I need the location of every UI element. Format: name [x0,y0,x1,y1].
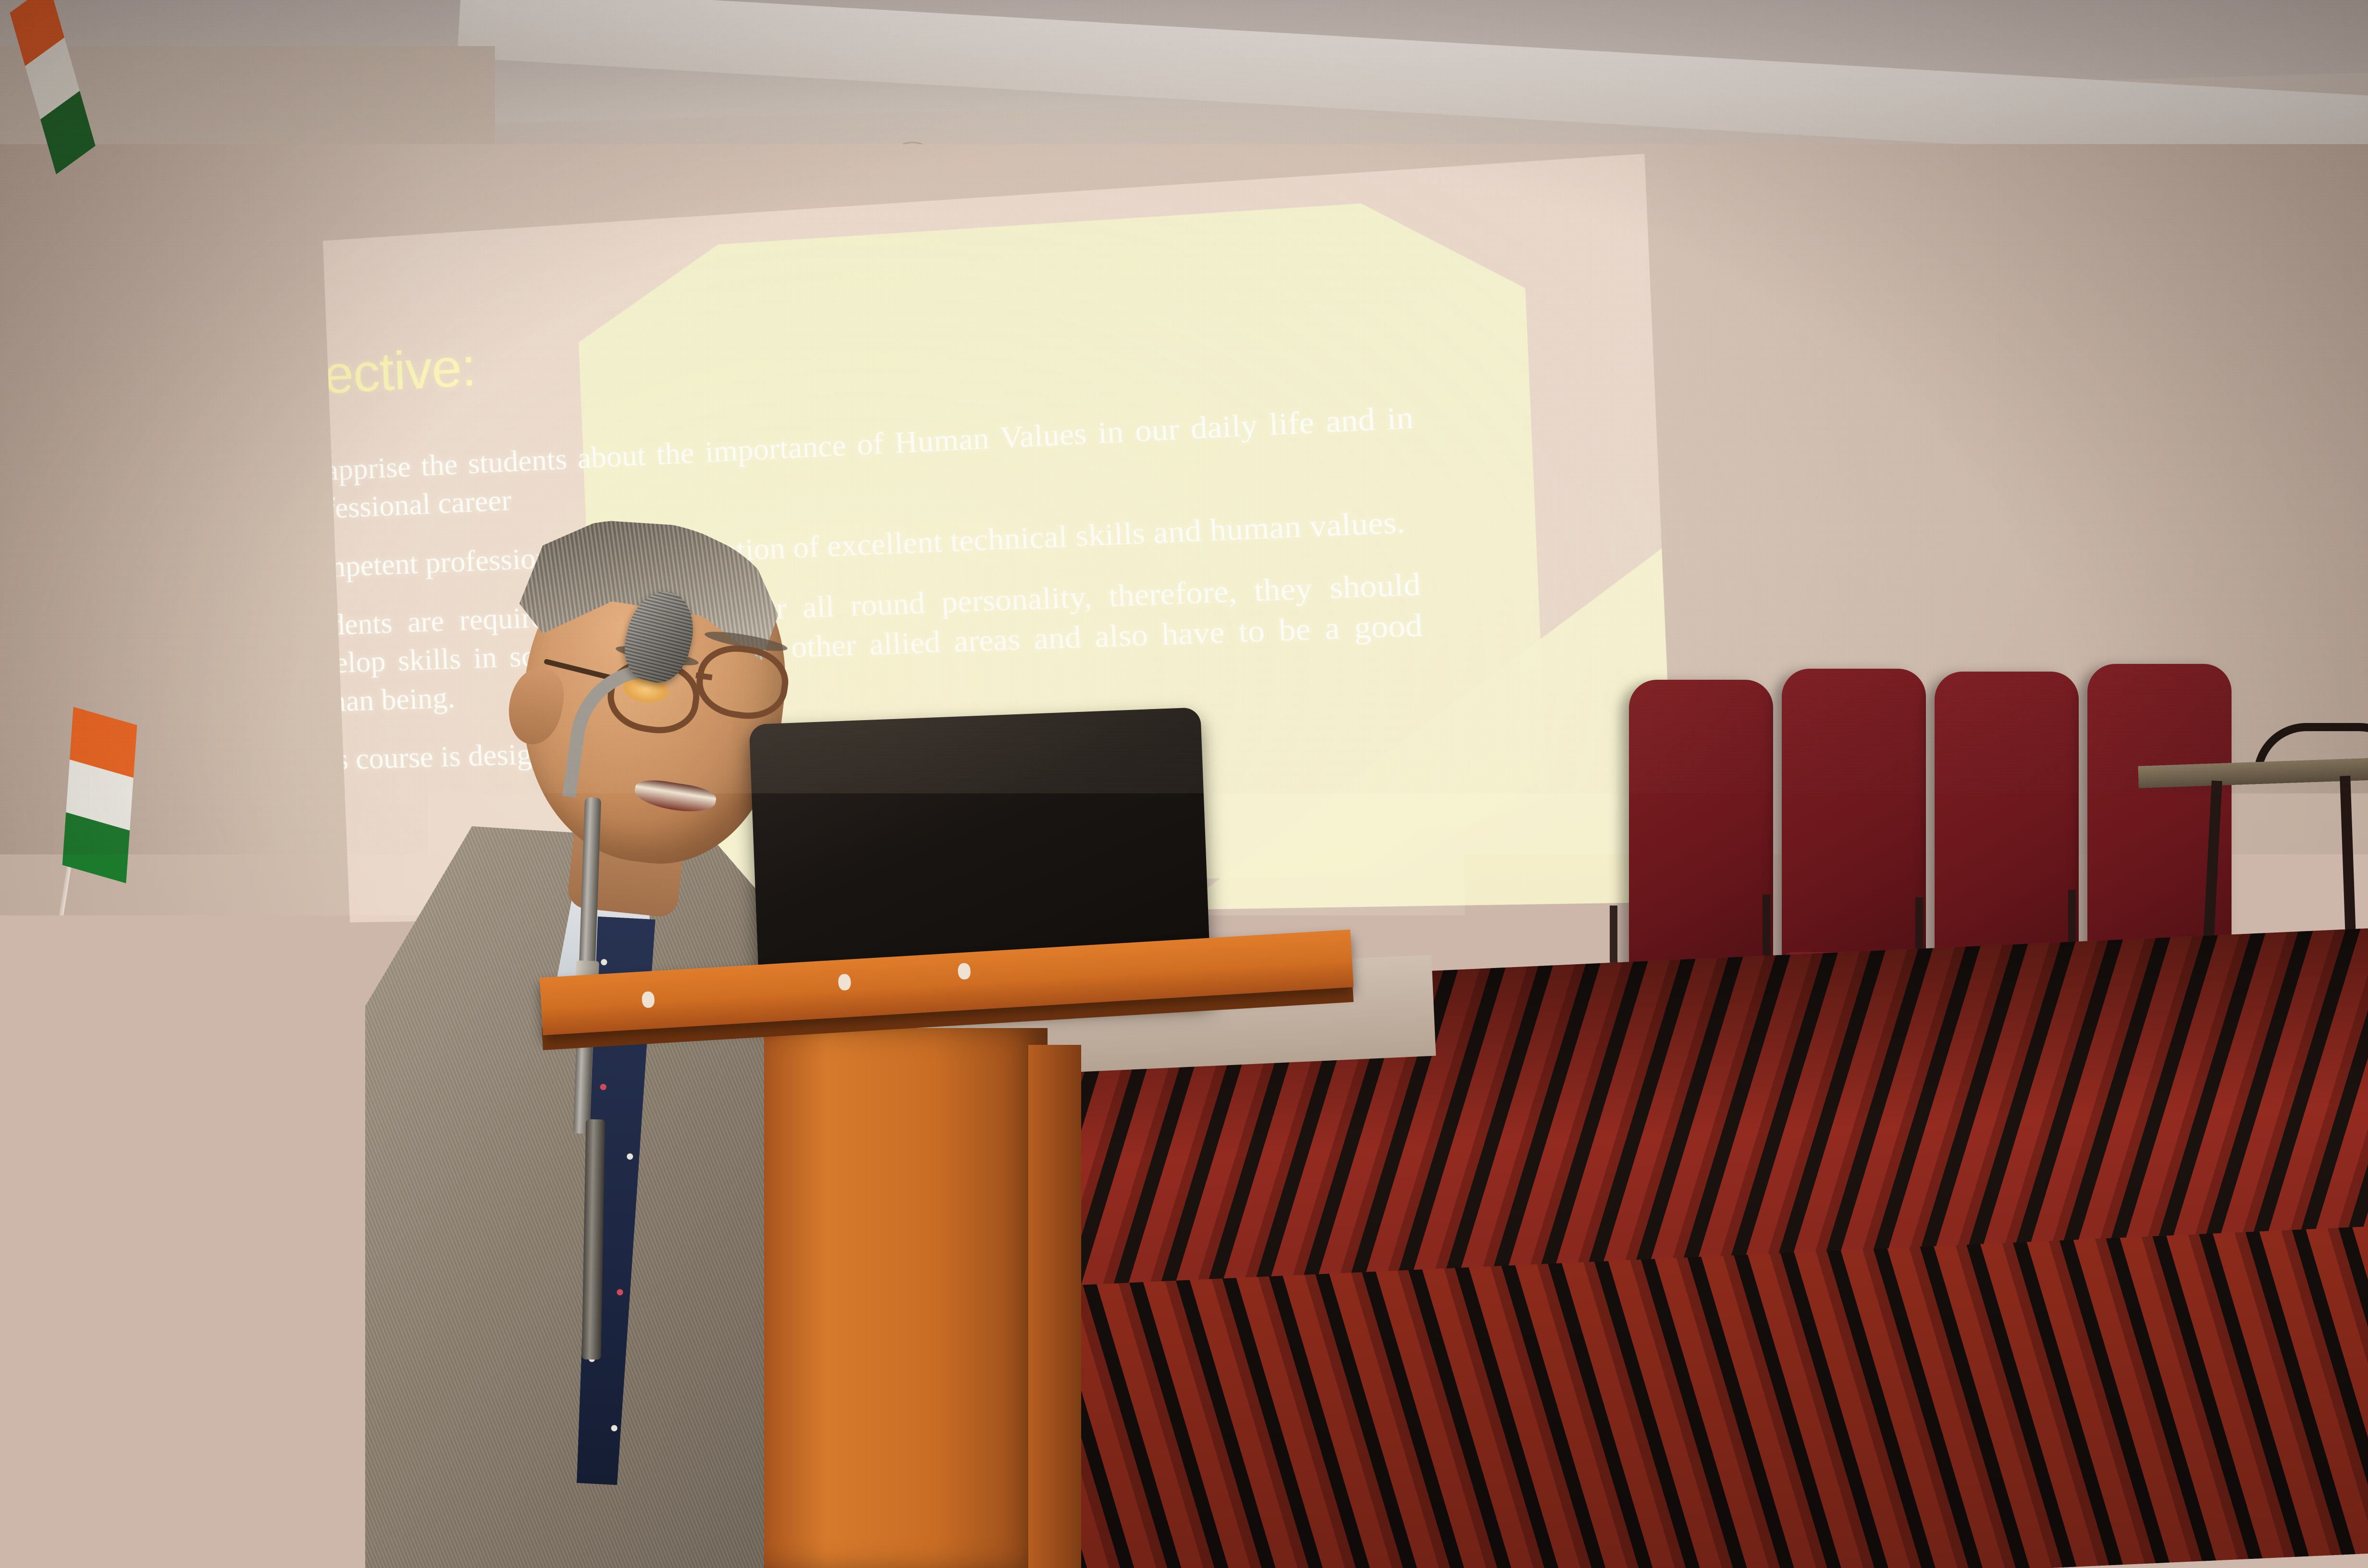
podium-column-side [1028,1045,1081,1568]
india-flag-icon [62,707,137,883]
lecture-hall-photo: Objective: To apprise the students about… [0,0,2368,1568]
podium-column [764,1028,1048,1568]
paint-speck [641,991,655,1008]
paint-speck [958,963,971,980]
slide-title: Objective: [323,335,477,410]
paint-speck [838,974,851,991]
